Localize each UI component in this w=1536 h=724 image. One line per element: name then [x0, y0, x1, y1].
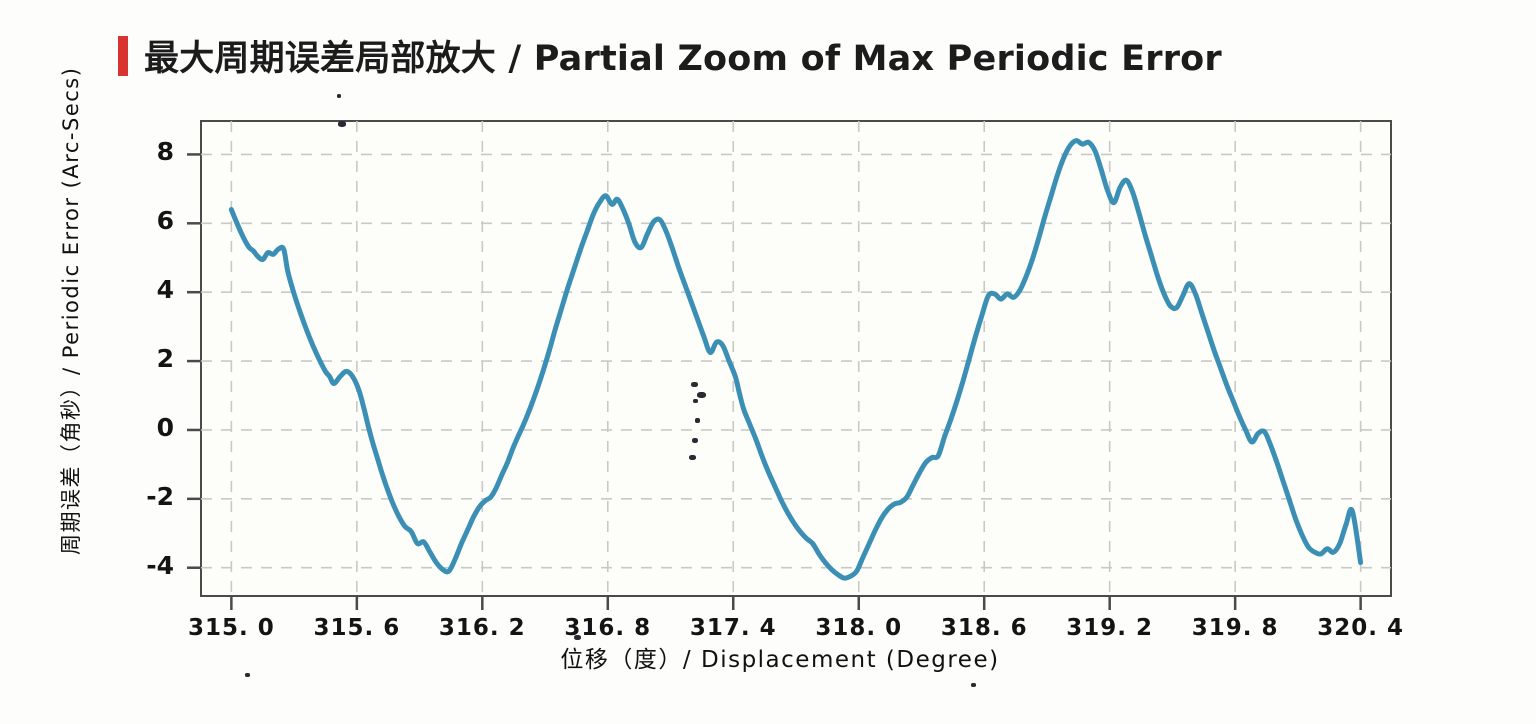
x-tick-label: 318. 0: [789, 615, 929, 641]
scan-speckle: [692, 438, 698, 443]
x-tick-label: 320. 4: [1291, 615, 1431, 641]
y-tick-label: 0: [114, 413, 174, 442]
x-tick-label: 318. 6: [914, 615, 1054, 641]
y-tick-label: 8: [114, 137, 174, 166]
scan-speckle: [337, 94, 341, 98]
x-tick-label: 316. 8: [538, 615, 678, 641]
x-tick-label: 319. 8: [1165, 615, 1305, 641]
y-tick-label: -2: [114, 482, 174, 511]
scan-speckle: [691, 382, 698, 387]
scan-speckle: [693, 399, 698, 403]
scan-speckle: [971, 683, 976, 687]
x-axis-title: 位移（度）/ Displacement (Degree): [380, 640, 1180, 674]
scan-speckle: [245, 673, 250, 677]
scan-speckle: [689, 455, 696, 460]
y-tick-label: 4: [114, 275, 174, 304]
x-tick-label: 316. 2: [412, 615, 552, 641]
scan-speckle: [574, 635, 581, 640]
scan-speckle: [695, 418, 700, 423]
y-axis-title: 周期误差（角秒）/ Periodic Error (Arc-Secs): [55, 75, 85, 555]
y-tick-label: 2: [114, 344, 174, 373]
x-tick-label: 315. 6: [287, 615, 427, 641]
scan-speckle: [697, 392, 706, 398]
plot-frame: [200, 120, 1392, 597]
x-tick-label: 317. 4: [663, 615, 803, 641]
y-tick-label: -4: [114, 551, 174, 580]
chart-container: 86420-2-4315. 0315. 6316. 2316. 8317. 43…: [0, 0, 1536, 724]
y-tick-label: 6: [114, 206, 174, 235]
x-tick-label: 315. 0: [161, 615, 301, 641]
x-tick-label: 319. 2: [1040, 615, 1180, 641]
chart-page: 最大周期误差局部放大 / Partial Zoom of Max Periodi…: [0, 0, 1536, 724]
scan-speckle: [338, 121, 346, 127]
